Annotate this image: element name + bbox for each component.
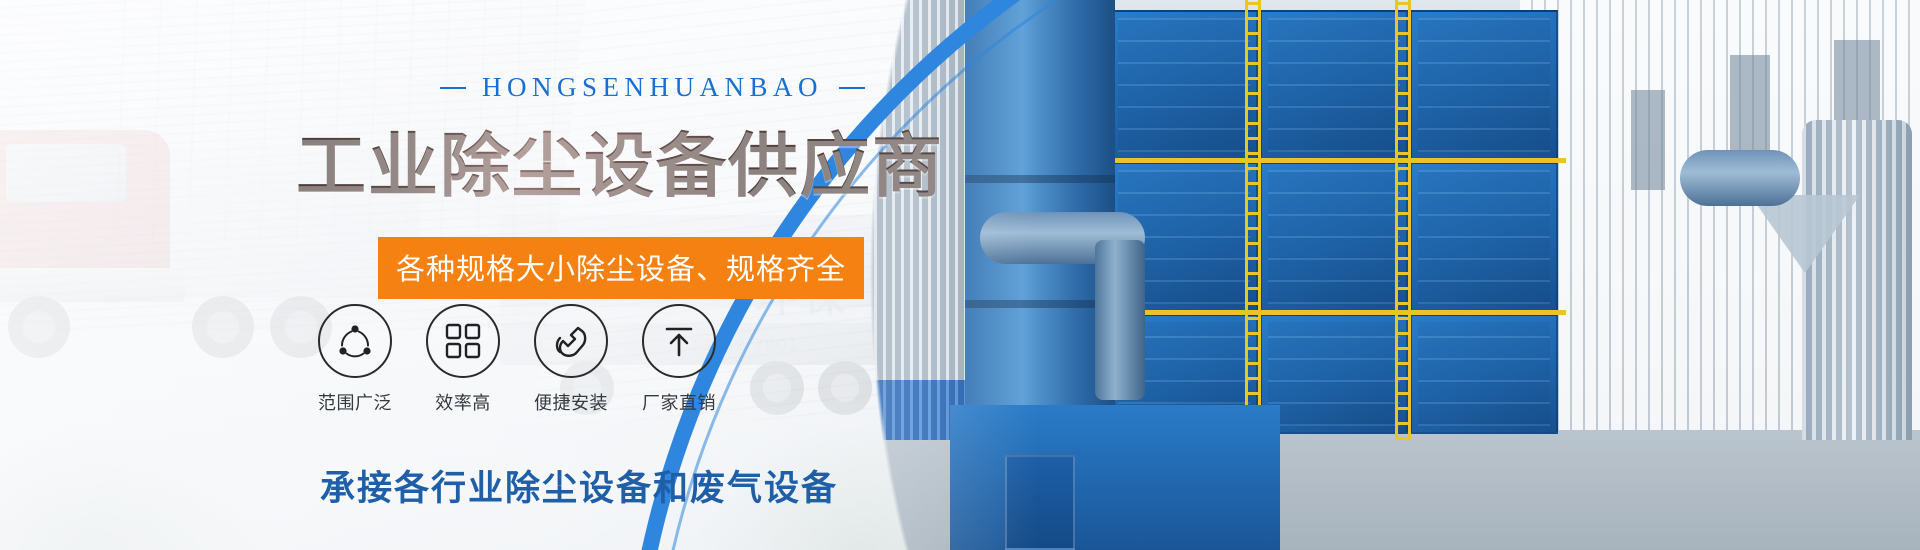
promo-banner: 环保 13132 7001 bbox=[0, 0, 1920, 550]
feature-label: 效率高 bbox=[435, 389, 491, 415]
grid-squares-icon bbox=[426, 304, 500, 378]
dash-right-icon bbox=[839, 87, 865, 89]
feature-label: 厂家直销 bbox=[642, 389, 716, 415]
feature-item-factory-direct[interactable]: 厂家直销 bbox=[642, 304, 716, 415]
feature-list: 范围广泛 效率高 bbox=[318, 304, 716, 415]
feature-item-range[interactable]: 范围广泛 bbox=[318, 304, 392, 415]
share-nodes-icon bbox=[318, 304, 392, 378]
wrench-icon bbox=[534, 304, 608, 378]
eyebrow-text: HONGSENHUANBAO bbox=[482, 72, 823, 103]
upload-arrow-icon bbox=[642, 304, 716, 378]
feature-label: 便捷安装 bbox=[534, 389, 608, 415]
page-title: 工业除尘设备供应商 bbox=[296, 110, 944, 211]
subtitle-highlight: 各种规格大小除尘设备、规格齐全 bbox=[378, 237, 864, 299]
banner-content: HONGSENHUANBAO 工业除尘设备供应商 各种规格大小除尘设备、规格齐全 bbox=[0, 0, 1050, 550]
feature-item-efficiency[interactable]: 效率高 bbox=[426, 304, 500, 415]
feature-item-installation[interactable]: 便捷安装 bbox=[534, 304, 608, 415]
banner-tagline: 承接各行业除尘设备和废气设备 bbox=[320, 460, 838, 511]
feature-label: 范围广泛 bbox=[318, 389, 392, 415]
dash-left-icon bbox=[440, 87, 466, 89]
eyebrow-brand: HONGSENHUANBAO bbox=[440, 72, 865, 103]
